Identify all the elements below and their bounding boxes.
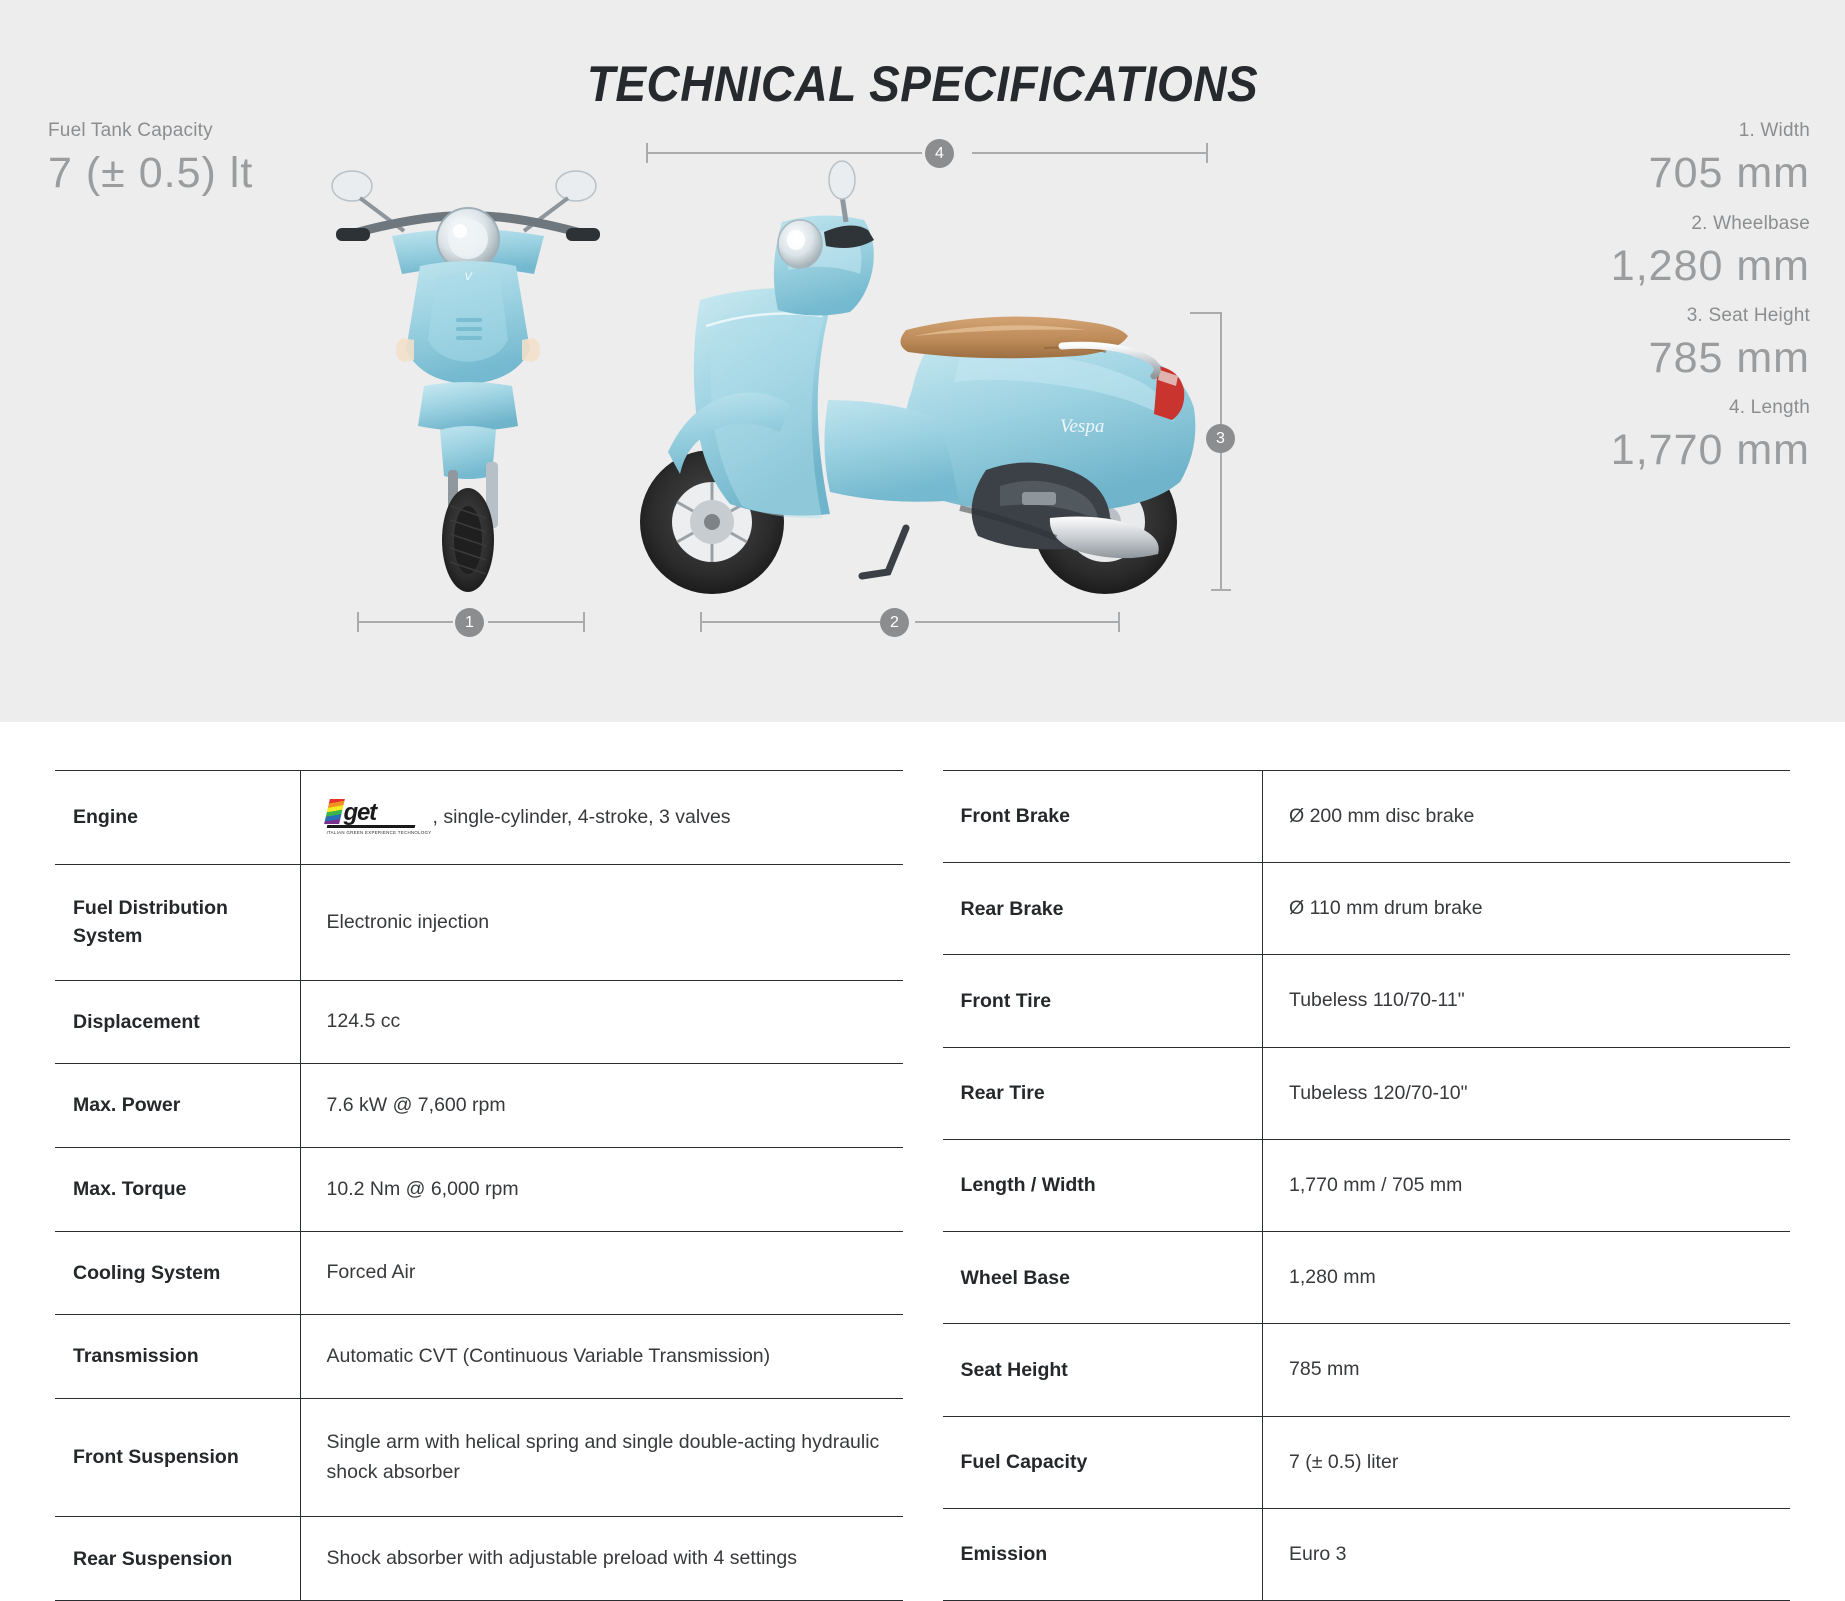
spec-value: Tubeless 110/70-11"	[1263, 955, 1791, 1047]
table-row: Max. Torque 10.2 Nm @ 6,000 rpm	[55, 1147, 903, 1231]
spec-value: Tubeless 120/70-10"	[1263, 1047, 1791, 1139]
spec-value: 10.2 Nm @ 6,000 rpm	[300, 1147, 903, 1231]
engine-specifications-table: Engine get ITALIAN GREEN EXPERIENCE TECH…	[55, 770, 903, 1601]
spec-value: Ø 110 mm drum brake	[1263, 863, 1791, 955]
spec-label: Displacement	[55, 980, 300, 1064]
table-row: Transmission Automatic CVT (Continuous V…	[55, 1315, 903, 1399]
table-row: Length / Width 1,770 mm / 705 mm	[943, 1139, 1791, 1231]
table-row: Front Brake Ø 200 mm disc brake	[943, 771, 1791, 863]
table-row: Seat Height 785 mm	[943, 1324, 1791, 1416]
table-row: Displacement 124.5 cc	[55, 980, 903, 1064]
spec-label: Cooling System	[55, 1231, 300, 1315]
spec-label: Length / Width	[943, 1139, 1263, 1231]
spec-value: 7.6 kW @ 7,600 rpm	[300, 1064, 903, 1148]
table-row: Wheel Base 1,280 mm	[943, 1232, 1791, 1324]
table-row: Rear Brake Ø 110 mm drum brake	[943, 863, 1791, 955]
spec-label: Engine	[55, 771, 300, 865]
i-get-wordmark: get	[344, 802, 376, 825]
spec-label: Emission	[943, 1508, 1263, 1600]
spec-value: Single arm with helical spring and singl…	[300, 1398, 903, 1516]
spec-label: Front Suspension	[55, 1398, 300, 1516]
table-row: Front Tire Tubeless 110/70-11"	[943, 955, 1791, 1047]
scooter-illustration: V	[0, 0, 1845, 722]
dimension-marker-2: 2	[880, 608, 909, 637]
spec-label: Front Tire	[943, 955, 1263, 1047]
spec-label: Fuel Capacity	[943, 1416, 1263, 1508]
dimension-marker-3: 3	[1206, 424, 1235, 453]
table-row: Rear Tire Tubeless 120/70-10"	[943, 1047, 1791, 1139]
table-row: Cooling System Forced Air	[55, 1231, 903, 1315]
spec-value: 124.5 cc	[300, 980, 903, 1064]
i-get-tagline: ITALIAN GREEN EXPERIENCE TECHNOLOGY	[327, 830, 432, 837]
spec-value: Euro 3	[1263, 1508, 1791, 1600]
spec-value: 785 mm	[1263, 1324, 1791, 1416]
chassis-specifications-table: Front Brake Ø 200 mm disc brake Rear Bra…	[943, 770, 1791, 1601]
spec-value: Ø 200 mm disc brake	[1263, 771, 1791, 863]
table-row: Engine get ITALIAN GREEN EXPERIENCE TECH…	[55, 771, 903, 865]
spec-label: Rear Brake	[943, 863, 1263, 955]
table-row: Max. Power 7.6 kW @ 7,600 rpm	[55, 1064, 903, 1148]
scooter-svg: V	[0, 0, 1845, 722]
table-row: Rear Suspension Shock absorber with adju…	[55, 1517, 903, 1601]
hero-section: TECHNICAL SPECIFICATIONS Fuel Tank Capac…	[0, 0, 1845, 722]
svg-text:Vespa: Vespa	[1060, 416, 1104, 437]
dimension-marker-1: 1	[455, 608, 484, 637]
spec-label: Rear Suspension	[55, 1517, 300, 1601]
i-get-logo: get ITALIAN GREEN EXPERIENCE TECHNOLOGY	[327, 799, 432, 837]
spec-value: 7 (± 0.5) liter	[1263, 1416, 1791, 1508]
spec-label: Fuel Distribution System	[55, 864, 300, 980]
i-get-rainbow-bar	[324, 799, 345, 824]
spec-label: Max. Torque	[55, 1147, 300, 1231]
engine-description: , single-cylinder, 4-stroke, 3 valves	[433, 803, 731, 832]
scooter-side-view: Vespa	[640, 161, 1195, 594]
table-row: Fuel Distribution System Electronic inje…	[55, 864, 903, 980]
spec-value: Forced Air	[300, 1231, 903, 1315]
spec-label: Rear Tire	[943, 1047, 1263, 1139]
dimension-marker-4: 4	[925, 139, 954, 168]
spec-label: Seat Height	[943, 1324, 1263, 1416]
spec-label: Max. Power	[55, 1064, 300, 1148]
spec-value: 1,280 mm	[1263, 1232, 1791, 1324]
spec-value: Shock absorber with adjustable preload w…	[300, 1517, 903, 1601]
spec-value: get ITALIAN GREEN EXPERIENCE TECHNOLOGY …	[300, 771, 903, 865]
spec-label: Transmission	[55, 1315, 300, 1399]
table-row: Emission Euro 3	[943, 1508, 1791, 1600]
table-row: Front Suspension Single arm with helical…	[55, 1398, 903, 1516]
table-row: Fuel Capacity 7 (± 0.5) liter	[943, 1416, 1791, 1508]
scooter-front-view: V	[332, 171, 600, 592]
spec-value: Automatic CVT (Continuous Variable Trans…	[300, 1315, 903, 1399]
spec-label: Wheel Base	[943, 1232, 1263, 1324]
i-get-underline	[326, 825, 415, 828]
specifications-tables: Engine get ITALIAN GREEN EXPERIENCE TECH…	[0, 722, 1845, 1601]
spec-value: 1,770 mm / 705 mm	[1263, 1139, 1791, 1231]
spec-value: Electronic injection	[300, 864, 903, 980]
spec-label: Front Brake	[943, 771, 1263, 863]
